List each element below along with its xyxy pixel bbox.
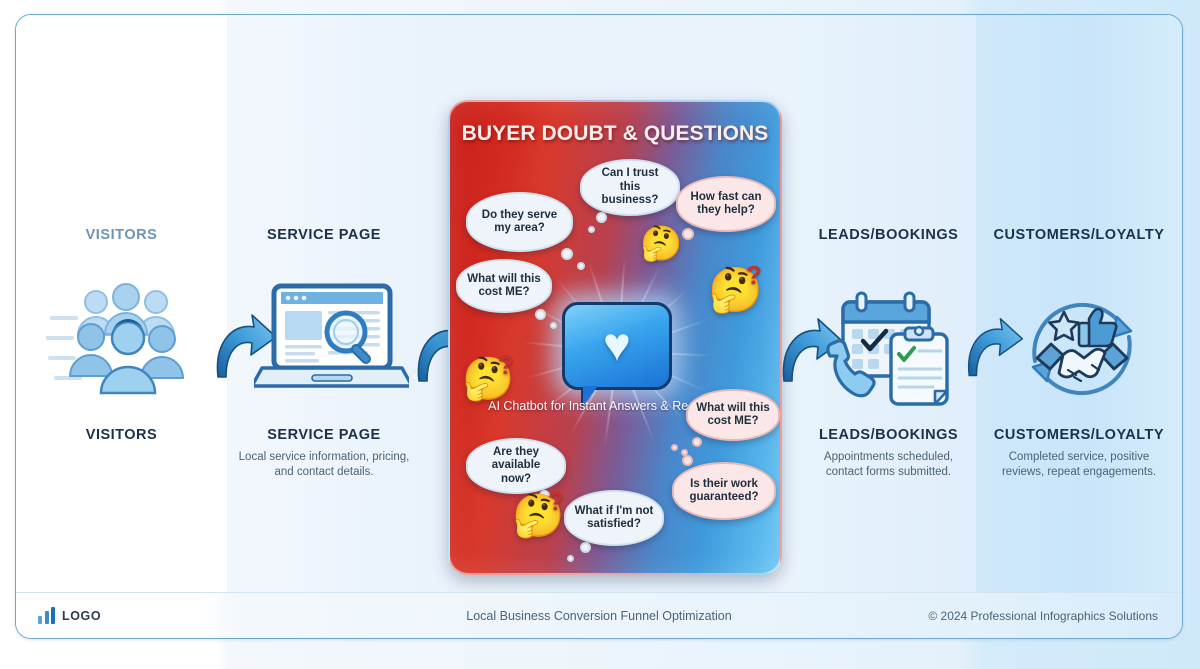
- handshake-loyalty-icon: [1017, 285, 1147, 410]
- thought-bubble-text: Can I trust this business?: [590, 167, 670, 208]
- stage-customers-loyalty: CUSTOMERS/LOYALTY: [976, 15, 1182, 592]
- heart-icon: ♥: [603, 321, 631, 368]
- question-mark-icon: ?: [746, 260, 762, 291]
- chat-bubble-heart-icon: ♥: [562, 302, 672, 390]
- funnel-stage-area: VISITORS: [16, 15, 1182, 592]
- customers-loyalty-top-label: CUSTOMERS/LOYALTY: [976, 227, 1182, 243]
- leads-bookings-bottom-desc: Appointments scheduled, contact forms su…: [801, 450, 976, 480]
- thought-bubble-text: What will this cost ME?: [696, 402, 770, 429]
- thought-bubble-not-satisfied: What if I'm not satisfied?: [564, 490, 664, 546]
- thought-bubble-trust: Can I trust this business?: [580, 159, 680, 216]
- thought-bubble-text: Is their work guaranteed?: [682, 478, 766, 505]
- doubt-panel-title: BUYER DOUBT & QUESTIONS: [450, 122, 780, 146]
- service-page-bottom-desc: Local service information, pricing, and …: [227, 450, 421, 480]
- stage-service-page: SERVICE PAGE: [227, 15, 421, 592]
- thought-bubble-guaranteed: Is their work guaranteed?: [672, 462, 776, 520]
- thought-bubble-how-fast: How fast can they help?: [676, 176, 776, 232]
- customers-loyalty-bottom-title: CUSTOMERS/LOYALTY: [976, 427, 1182, 443]
- thought-bubble-text: What if I'm not satisfied?: [574, 505, 654, 532]
- customers-loyalty-bottom-desc: Completed service, positive reviews, rep…: [976, 450, 1182, 480]
- thought-bubble-text: Are they available now?: [476, 446, 556, 487]
- thought-bubble-text: What will this cost ME?: [466, 273, 542, 300]
- question-mark-icon: ?: [498, 350, 514, 381]
- people-group-icon: [46, 280, 196, 395]
- infographic-page: VISITORS: [0, 0, 1200, 669]
- footer-copyright: © 2024 Professional Infographics Solutio…: [928, 609, 1158, 623]
- service-page-top-label: SERVICE PAGE: [227, 227, 421, 243]
- buyer-doubt-panel: BUYER DOUBT & QUESTIONS ♥ A: [448, 100, 782, 575]
- laptop-search-icon: [254, 280, 409, 400]
- service-page-bottom-title: SERVICE PAGE: [227, 427, 421, 443]
- stage-leads-bookings: LEADS/BOOKINGS: [801, 15, 976, 592]
- leads-bookings-bottom-title: LEADS/BOOKINGS: [801, 427, 976, 443]
- visitors-top-label: VISITORS: [16, 227, 227, 243]
- question-mark-icon: ?: [548, 486, 564, 517]
- thought-bubble-cost-right: What will this cost ME?: [686, 389, 780, 441]
- infographic-footer: LOGO Local Business Conversion Funnel Op…: [16, 592, 1182, 638]
- thought-bubble-text: How fast can they help?: [686, 191, 766, 218]
- leads-bookings-top-label: LEADS/BOOKINGS: [801, 227, 976, 243]
- thought-bubble-serve-area: Do they serve my area?: [466, 192, 573, 252]
- thought-bubble-text: Do they serve my area?: [476, 209, 563, 236]
- stage-visitors: VISITORS: [16, 15, 227, 592]
- thinking-face-emoji: 🤔: [640, 227, 682, 261]
- calendar-clipboard-phone-icon: [825, 290, 953, 410]
- infographic-card: VISITORS: [15, 14, 1183, 639]
- visitors-bottom-title: VISITORS: [16, 427, 227, 443]
- thought-bubble-cost-left: What will this cost ME?: [456, 259, 552, 313]
